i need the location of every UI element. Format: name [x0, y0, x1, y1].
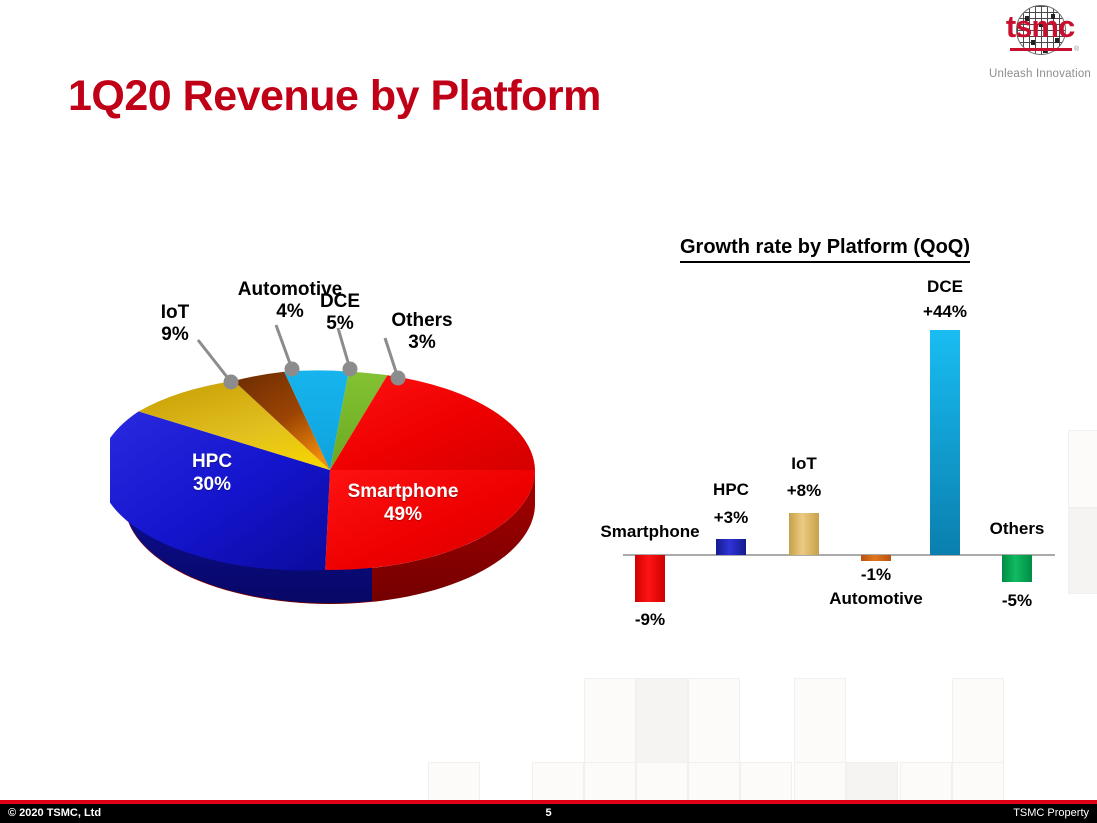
bar-label-iot: IoT: [754, 454, 854, 474]
ghost-cell: [1068, 430, 1097, 508]
bar-value-hpc: +3%: [681, 508, 781, 528]
pie-callout-dce: DCE 5%: [305, 291, 375, 335]
ghost-cell: [688, 678, 740, 764]
bar-value-dce: +44%: [895, 302, 995, 322]
footer-classification: TSMC Property: [1013, 807, 1089, 819]
page-title: 1Q20 Revenue by Platform: [68, 72, 601, 121]
pie-label-smartphone-name: Smartphone: [348, 481, 459, 502]
bar-label-automotive: Automotive: [806, 589, 946, 609]
tsmc-logo: tsmc ® Unleash Innovation: [986, 4, 1094, 86]
bar-value-automotive: -1%: [826, 565, 926, 585]
growth-rate-bar-chart: Growth rate by Platform (QoQ): [575, 236, 1085, 646]
pie-label-smartphone: Smartphone 49%: [318, 480, 488, 526]
pie-callout-others-name: Others: [391, 310, 452, 331]
ghost-cell: [584, 678, 636, 764]
pie-label-hpc: HPC 30%: [152, 450, 272, 496]
bar-label-dce: DCE: [895, 277, 995, 297]
pie-callout-dce-name: DCE: [320, 291, 360, 312]
pie-label-smartphone-value: 49%: [384, 504, 422, 525]
bar-label-others: Others: [967, 519, 1067, 539]
pie-label-hpc-name: HPC: [192, 451, 232, 472]
bar-value-iot: +8%: [754, 481, 854, 501]
logo-wordmark: tsmc: [994, 10, 1086, 44]
revenue-pie-chart: IoT 9% Automotive 4% DCE 5% Others 3% HP…: [110, 270, 570, 630]
pie-callout-automotive-value: 4%: [276, 301, 303, 322]
pie-callout-iot: IoT 9%: [140, 302, 210, 346]
footer: © 2020 TSMC, Ltd 5 TSMC Property: [0, 804, 1097, 823]
registered-trademark-icon: ®: [1074, 46, 1079, 53]
slide-canvas: tsmc ® Unleash Innovation 1Q20 Revenue b…: [0, 0, 1097, 823]
bar-value-others: -5%: [967, 591, 1067, 611]
footer-page-number: 5: [0, 807, 1097, 819]
ghost-cell: [636, 678, 688, 764]
logo-underline: [1010, 48, 1072, 51]
pie-callout-others: Others 3%: [376, 310, 468, 354]
pie-callout-dce-value: 5%: [326, 313, 353, 334]
bar-value-smartphone: -9%: [600, 610, 700, 630]
pie-label-hpc-value: 30%: [193, 474, 231, 495]
pie-callout-iot-name: IoT: [161, 302, 190, 323]
pie-callout-iot-value: 9%: [161, 324, 188, 345]
ghost-cell: [952, 678, 1004, 764]
logo-mark: tsmc ®: [994, 4, 1086, 58]
ghost-cell: [1068, 508, 1097, 594]
logo-tagline: Unleash Innovation: [986, 68, 1094, 80]
ghost-cell: [794, 678, 846, 764]
pie-callout-others-value: 3%: [408, 332, 435, 353]
